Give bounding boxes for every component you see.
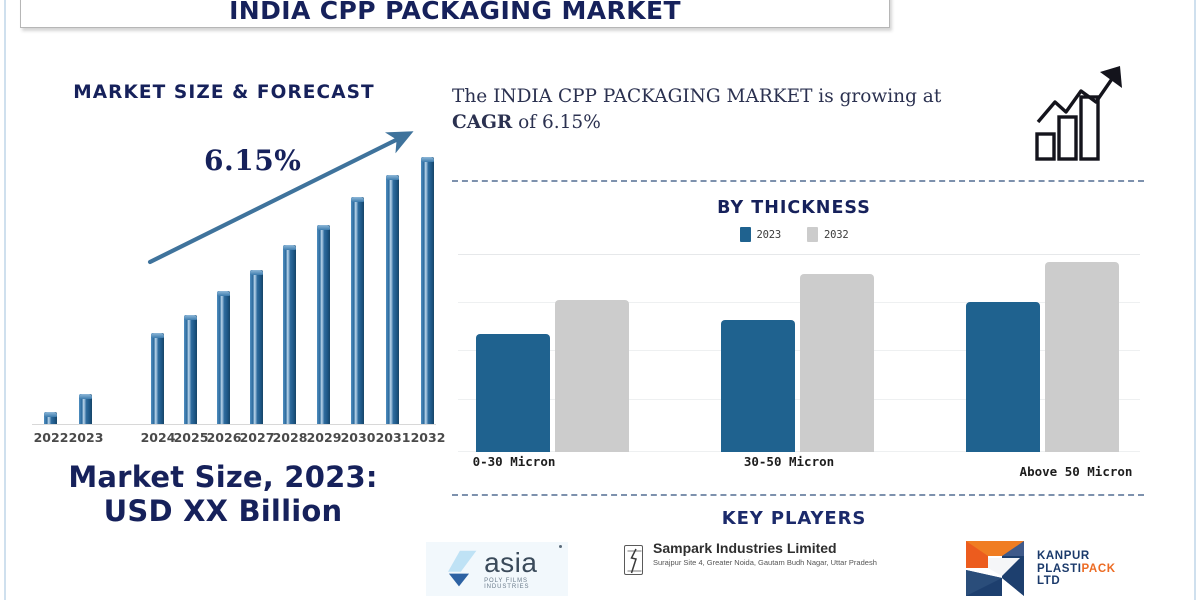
bar-chart-growth-icon xyxy=(1034,64,1126,162)
key-players-heading: KEY PLAYERS xyxy=(448,508,1140,529)
asia-poly-films-logo xyxy=(448,548,479,590)
title-banner: INDIA CPP PACKAGING MARKET xyxy=(20,0,890,28)
cagr-statement: The INDIA CPP PACKAGING MARKET is growin… xyxy=(452,84,972,137)
growth-xtick-2032: 2032 xyxy=(411,430,446,445)
kanpur-plastipack-logo xyxy=(958,538,1030,600)
market-size-forecast-chart: 6.15% 2022 2023 2024 2025 2026 2027 2028… xyxy=(22,120,442,455)
page-right-rule xyxy=(1194,0,1196,600)
thickness-xtick-0-30: 0-30 Micron xyxy=(473,454,556,469)
by-thickness-legend: 2023 2032 xyxy=(448,227,1140,242)
growth-xtick-2024: 2024 xyxy=(141,430,176,445)
asia-dot-accent xyxy=(559,545,562,548)
market-size-line-2: USD XX Billion xyxy=(18,494,428,528)
page-title: INDIA CPP PACKAGING MARKET xyxy=(229,0,681,27)
right-panel: The INDIA CPP PACKAGING MARKET is growin… xyxy=(448,62,1148,597)
growth-chart-x-axis: 2022 2023 2024 2025 2026 2027 2028 2029 … xyxy=(22,430,442,456)
cagr-statement-prefix: The INDIA CPP PACKAGING MARKET is growin… xyxy=(452,86,941,107)
growth-chart-baseline xyxy=(32,424,436,425)
growth-xtick-2026: 2026 xyxy=(207,430,242,445)
kanpur-line-2: PLASTIPACK xyxy=(1037,563,1116,576)
growth-xtick-2025: 2025 xyxy=(174,430,209,445)
key-players-row: asia POLY FILMS INDUSTRIES Sampark In xyxy=(448,540,1148,600)
cagr-statement-mid: of xyxy=(512,112,542,133)
growth-xtick-2030: 2030 xyxy=(341,430,376,445)
market-size-panel: MARKET SIZE & FORECAST xyxy=(8,60,440,595)
cagr-statement-value: 6.15% xyxy=(542,112,601,133)
growth-xtick-2023: 2023 xyxy=(69,430,104,445)
kanpur-line-3: LTD xyxy=(1037,575,1116,588)
cagr-statement-bold: CAGR xyxy=(452,112,512,133)
by-thickness-chart: 0-30 Micron 30-50 Micron Above 50 Micron xyxy=(458,254,1140,486)
asia-wordmark: asia POLY FILMS INDUSTRIES xyxy=(484,549,568,590)
market-size-forecast-heading: MARKET SIZE & FORECAST xyxy=(8,82,440,103)
growth-xtick-2027: 2027 xyxy=(240,430,275,445)
cagr-annotation: 6.15% xyxy=(204,144,301,177)
legend-label-2032: 2032 xyxy=(824,229,849,241)
by-thickness-x-axis: 0-30 Micron 30-50 Micron Above 50 Micron xyxy=(458,454,1140,484)
sampark-text-block: Sampark Industries Limited Surajpur Site… xyxy=(653,540,891,568)
page-left-rule xyxy=(4,0,6,600)
market-size-line-1: Market Size, 2023: xyxy=(18,460,428,494)
legend-label-2023: 2023 xyxy=(757,229,782,241)
thickness-bar-above-50-2032 xyxy=(1045,262,1119,452)
kanpur-pack: PACK xyxy=(1082,563,1116,575)
key-player-sampark-industries[interactable]: Sampark Industries Limited Surajpur Site… xyxy=(624,540,924,575)
thickness-bar-30-50-2032 xyxy=(800,274,874,452)
sampark-industries-logo xyxy=(624,545,643,575)
legend-swatch-2032 xyxy=(807,227,818,242)
key-player-asia-poly-films[interactable]: asia POLY FILMS INDUSTRIES xyxy=(426,542,568,596)
thickness-bar-above-50-2023 xyxy=(966,302,1040,452)
thickness-bar-30-50-2023 xyxy=(721,320,795,452)
kanpur-plasti: PLASTI xyxy=(1037,563,1082,575)
legend-item-2032[interactable]: 2032 xyxy=(807,227,849,242)
infographic-page: INDIA CPP PACKAGING MARKET MARKET SIZE &… xyxy=(0,0,1200,600)
gridline-top xyxy=(458,254,1140,255)
thickness-xtick-30-50: 30-50 Micron xyxy=(744,454,834,469)
sampark-name: Sampark Industries Limited xyxy=(653,540,891,556)
thickness-bar-0-30-2023 xyxy=(476,334,550,452)
legend-item-2023[interactable]: 2023 xyxy=(740,227,782,242)
kanpur-line-1: KANPUR xyxy=(1037,550,1116,563)
growth-xtick-2031: 2031 xyxy=(376,430,411,445)
market-size-callout: Market Size, 2023: USD XX Billion xyxy=(18,460,428,528)
thickness-bar-0-30-2032 xyxy=(555,300,629,452)
growth-xtick-2029: 2029 xyxy=(307,430,342,445)
by-thickness-plot xyxy=(458,254,1140,452)
asia-name: asia xyxy=(484,547,537,578)
divider-bottom xyxy=(452,494,1144,496)
legend-swatch-2023 xyxy=(740,227,751,242)
by-thickness-heading: BY THICKNESS xyxy=(448,198,1140,218)
kanpur-wordmark: KANPUR PLASTIPACK LTD xyxy=(1037,550,1116,589)
growth-xtick-2028: 2028 xyxy=(273,430,308,445)
divider-top xyxy=(452,180,1144,182)
growth-chart-plot: 6.15% xyxy=(22,120,442,425)
thickness-xtick-above-50: Above 50 Micron xyxy=(1020,464,1133,479)
sampark-address: Surajpur Site 4, Greater Noida, Gautam B… xyxy=(653,558,891,568)
growth-xtick-2022: 2022 xyxy=(34,430,69,445)
asia-subtitle: POLY FILMS INDUSTRIES xyxy=(484,578,568,590)
key-player-kanpur-plastipack[interactable]: KANPUR PLASTIPACK LTD xyxy=(958,538,1116,600)
